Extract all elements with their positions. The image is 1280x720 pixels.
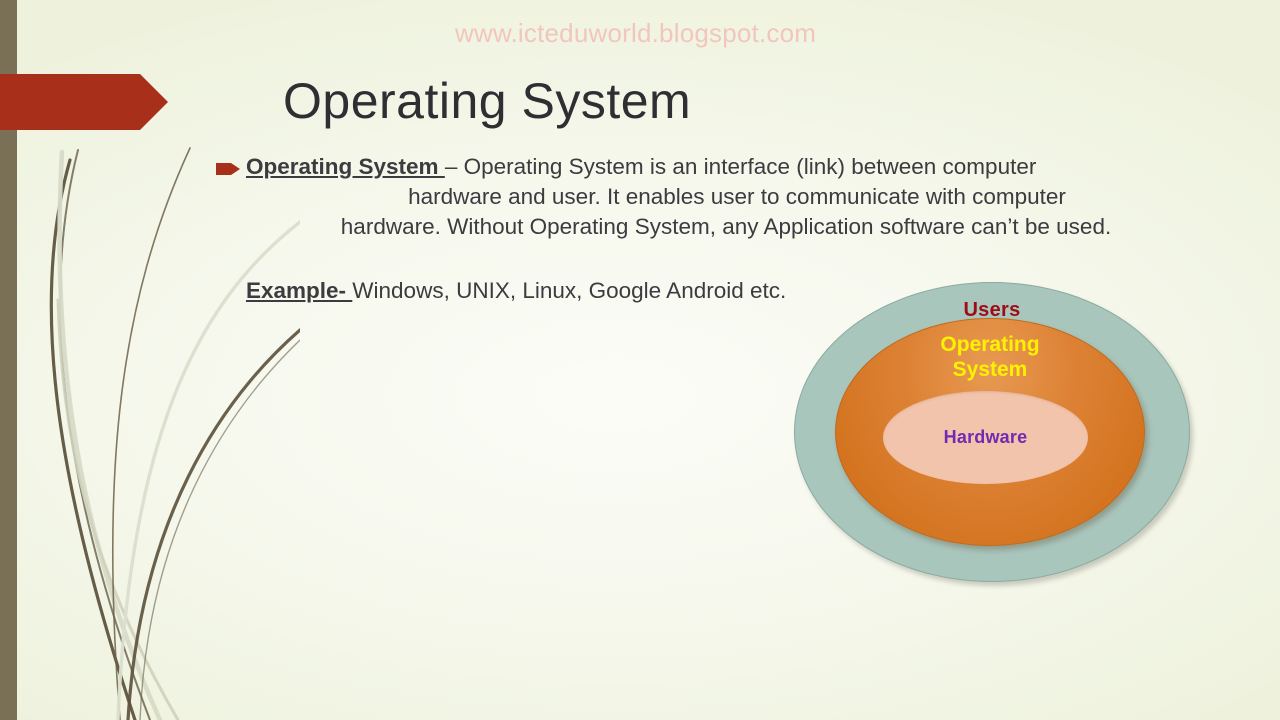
definition-line-3: hardware. Without Operating System, any … xyxy=(246,212,1206,242)
diagram-layer-hardware: Hardware xyxy=(883,391,1088,484)
example-lead-term: Example- xyxy=(246,278,352,303)
example-text: Windows, UNIX, Linux, Google Android etc… xyxy=(352,278,786,303)
nested-layers-diagram: Users Operating System Hardware xyxy=(780,276,1200,600)
definition-line-1: Operating System – Operating System is a… xyxy=(246,152,1206,182)
diagram-label-hardware: Hardware xyxy=(944,427,1028,448)
diagram-label-operating-system: Operating System xyxy=(940,332,1039,382)
red-arrow-banner xyxy=(0,74,168,130)
arrow-bullet-icon xyxy=(216,162,240,176)
definition-line-2: hardware and user. It enables user to co… xyxy=(246,182,1206,212)
page-title: Operating System xyxy=(283,72,691,130)
watermark-url: www.icteduworld.blogspot.com xyxy=(455,18,816,49)
slide-canvas: www.icteduworld.blogspot.com Operating S… xyxy=(0,0,1280,720)
definition-paragraph: Operating System – Operating System is a… xyxy=(216,152,1206,242)
bullet-item-definition: Operating System – Operating System is a… xyxy=(216,152,1206,242)
diagram-label-os-line1: Operating xyxy=(940,333,1039,356)
definition-lead-term: Operating System xyxy=(246,154,445,179)
diagram-label-os-line2: System xyxy=(953,358,1028,381)
definition-line-1-text: – Operating System is an interface (link… xyxy=(445,154,1037,179)
